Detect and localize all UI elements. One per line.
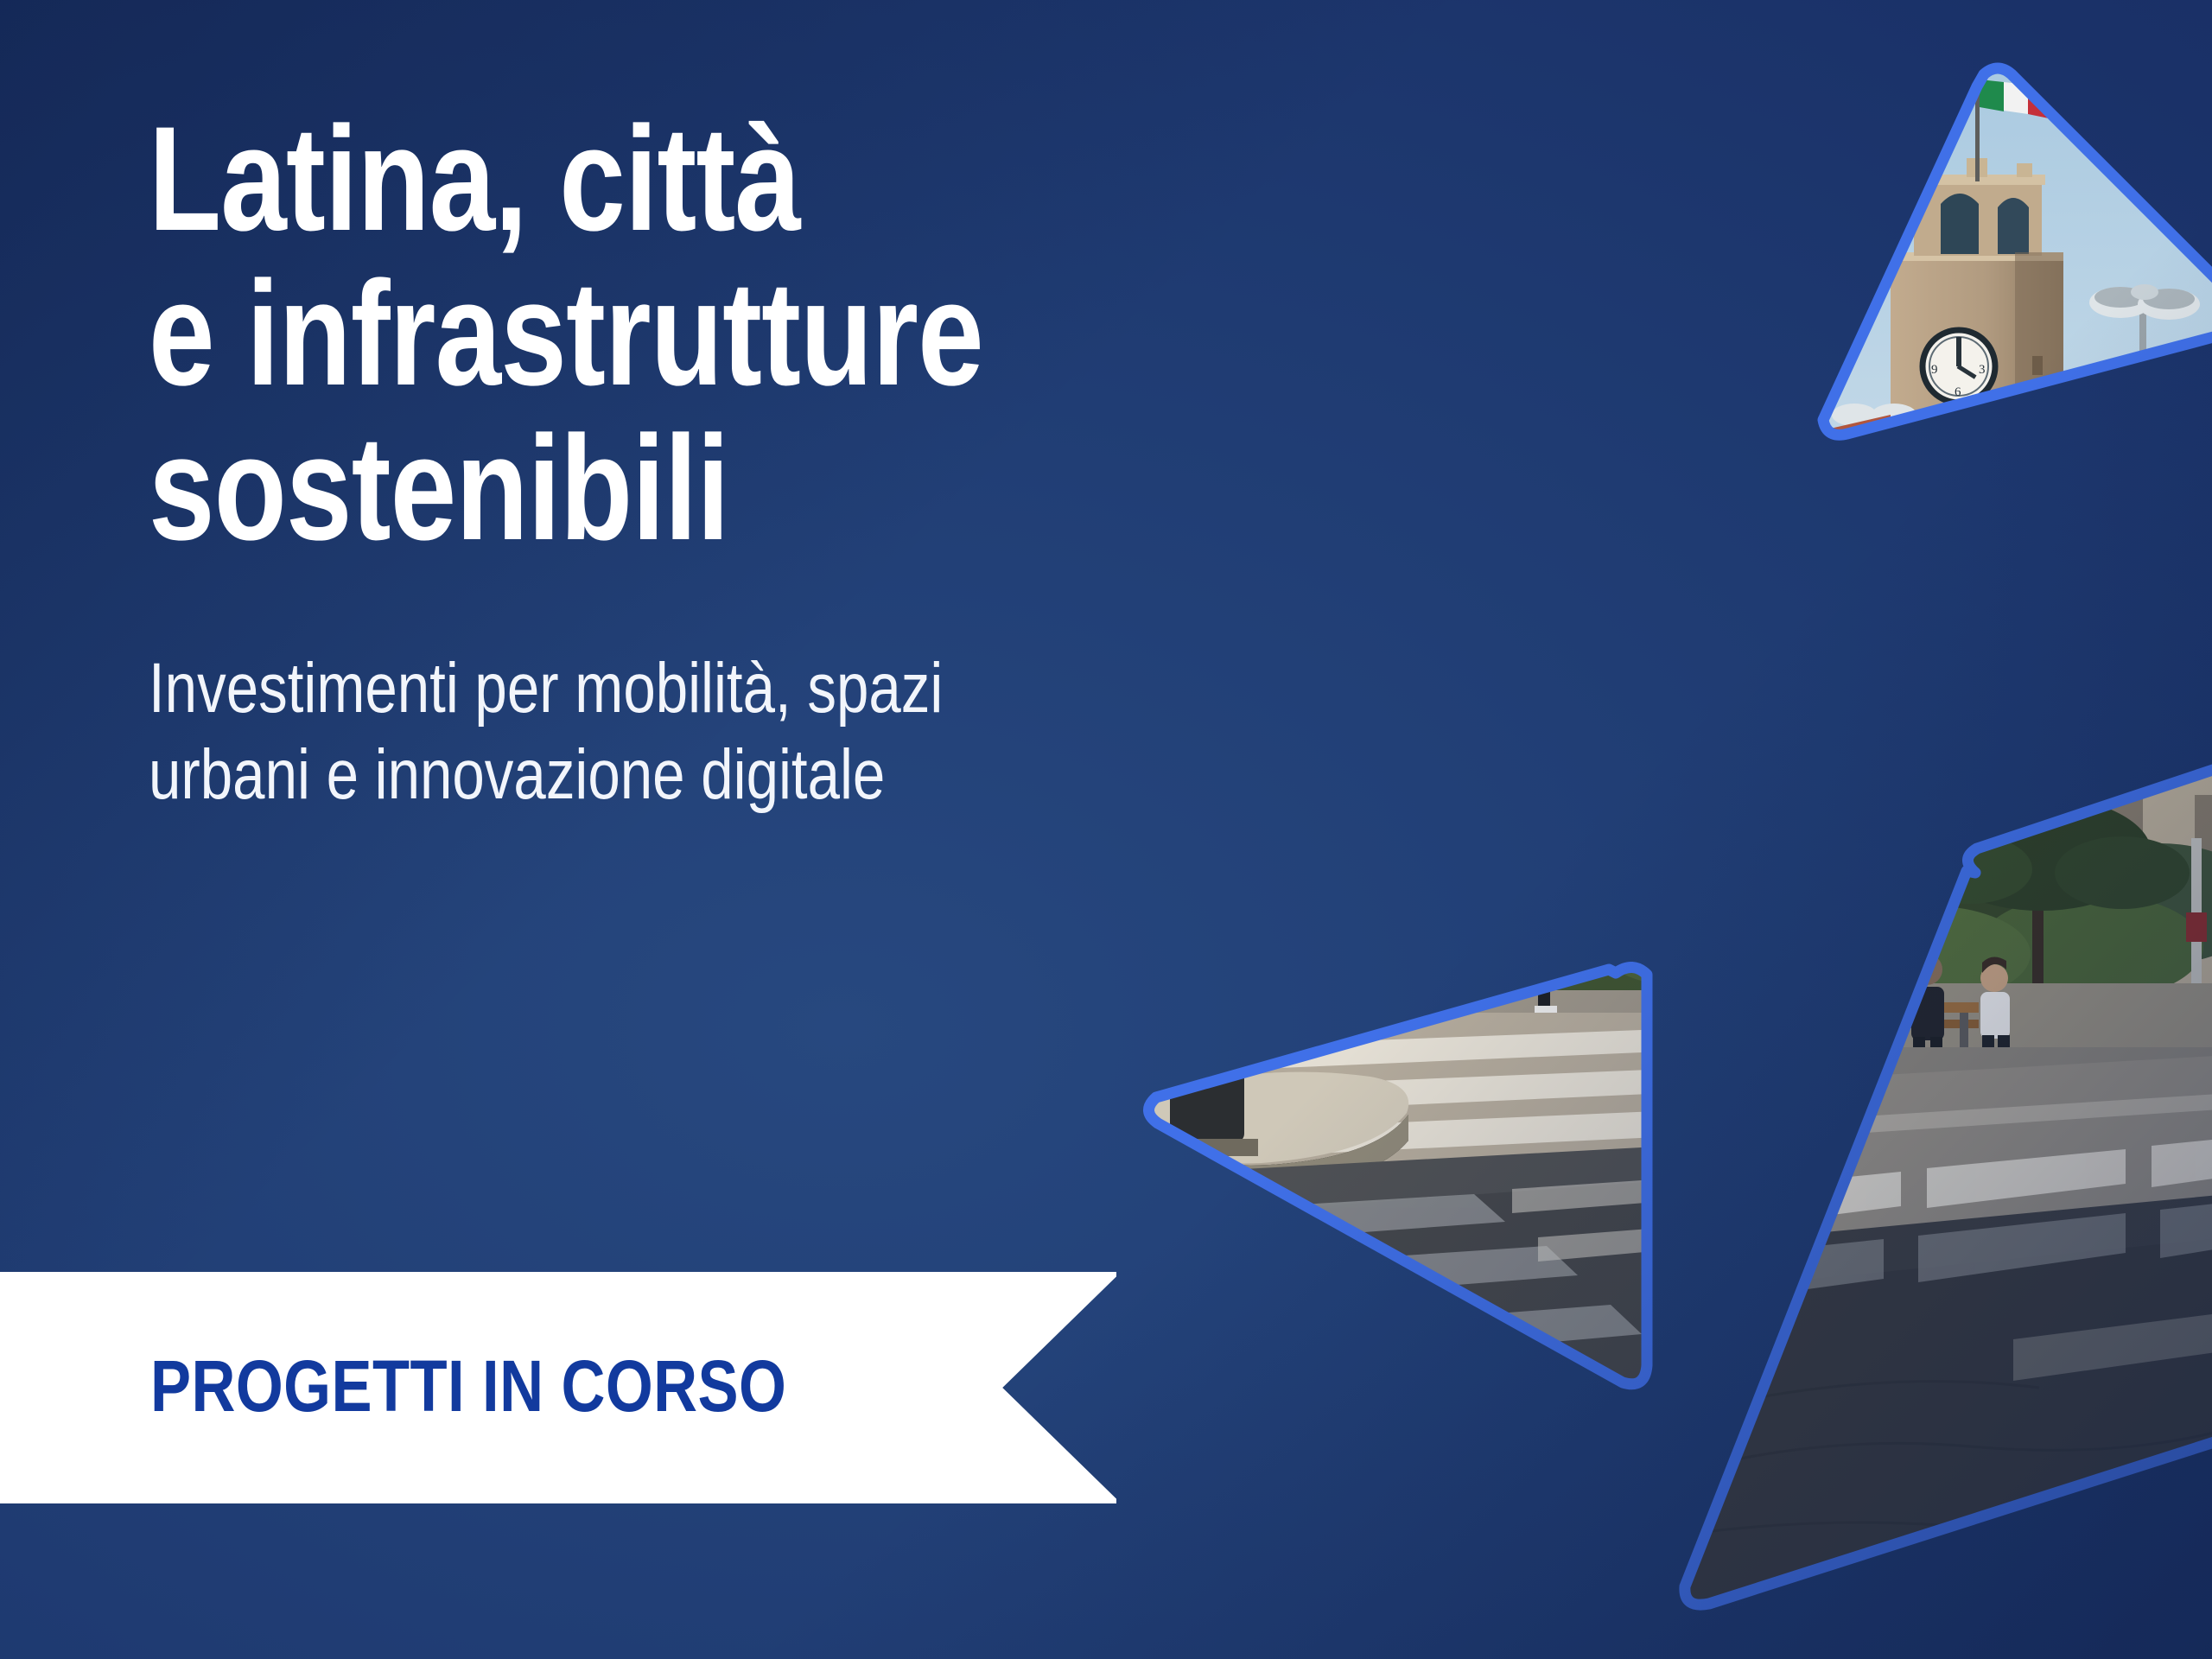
page-title: Latina, città e infrastrutture sostenibi… xyxy=(149,102,1282,566)
banner-root: 9 3 6 xyxy=(0,0,2212,1659)
copy-block: Latina, città e infrastrutture sostenibi… xyxy=(149,102,1566,818)
page-subtitle: Investimenti per mobilità, spazi urbani … xyxy=(149,566,1311,818)
status-ribbon-label: PROGETTI IN CORSO xyxy=(150,1344,786,1428)
